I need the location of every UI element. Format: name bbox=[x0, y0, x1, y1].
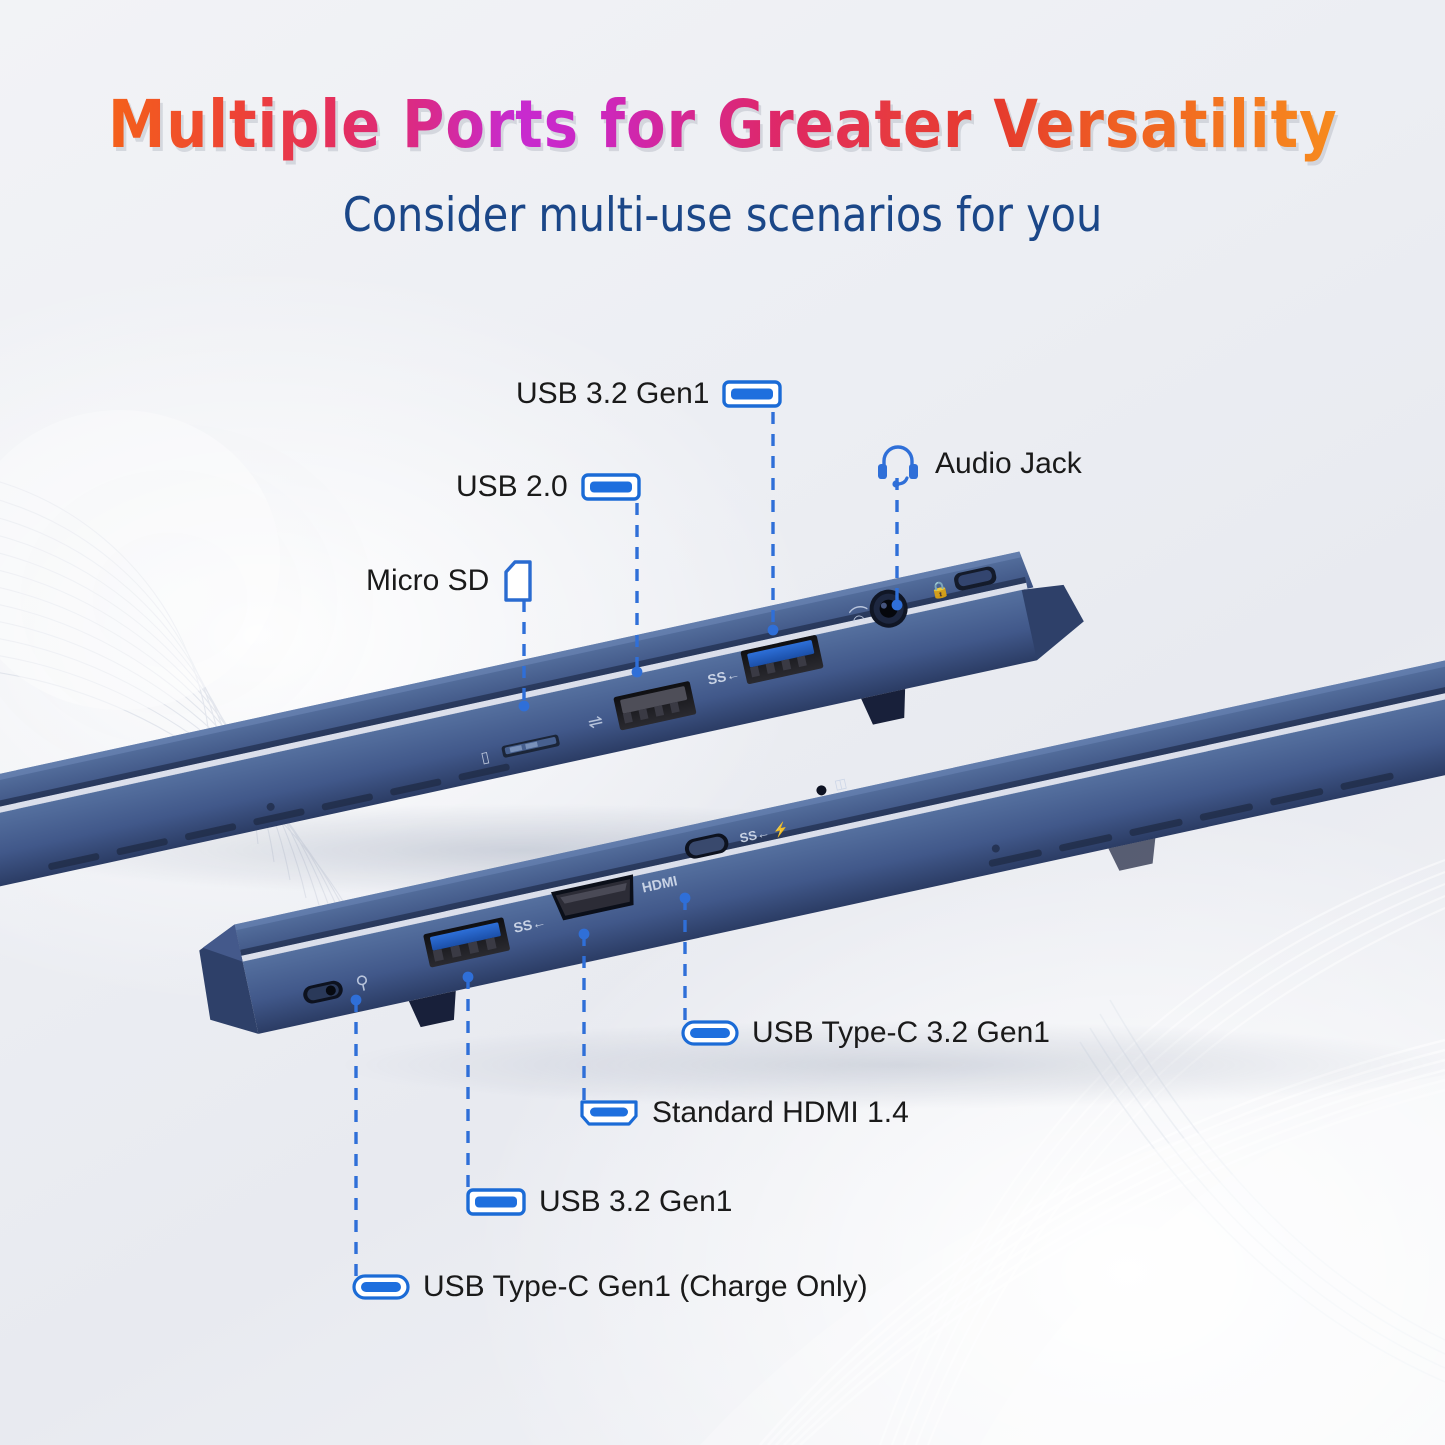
label-usb-32-gen1[interactable]: USB 3.2 Gen1 bbox=[516, 379, 782, 409]
port-audio-jack: ⌒ ◠ bbox=[845, 586, 911, 636]
laptop-upper: ▯ ⇌ bbox=[0, 541, 1096, 960]
usb-c-icon bbox=[352, 1273, 410, 1301]
label-usb-20[interactable]: USB 2.0 bbox=[456, 472, 641, 502]
label-micro-sd[interactable]: Micro SD bbox=[366, 559, 534, 603]
svg-text:SS← ⚡: SS← ⚡ bbox=[738, 820, 790, 846]
port-usb-c-3-2-gen1: SS← ⚡ bbox=[683, 818, 791, 860]
usb-c-icon bbox=[681, 1019, 739, 1047]
port-usb-3-2-gen1-lower: SS← bbox=[423, 908, 550, 967]
port-usb-3-2-gen1: SS← bbox=[703, 635, 824, 693]
leader-dots bbox=[351, 600, 903, 1006]
svg-text:⌒: ⌒ bbox=[847, 603, 871, 630]
page-title: Multiple Ports for Greater Versatility bbox=[108, 86, 1338, 163]
port-hdmi: HDMI bbox=[551, 866, 680, 922]
usb-a-icon bbox=[466, 1188, 526, 1216]
microsd-icon bbox=[502, 559, 534, 603]
hdmi-icon bbox=[579, 1098, 639, 1128]
infographic-canvas: ▯ ⇌ bbox=[0, 0, 1445, 1445]
label-usb-c-charge-text: USB Type-C Gen1 (Charge Only) bbox=[423, 1272, 868, 1302]
label-hdmi[interactable]: Standard HDMI 1.4 bbox=[579, 1098, 909, 1128]
svg-text:◫: ◫ bbox=[833, 775, 848, 792]
svg-text:🔒: 🔒 bbox=[928, 579, 951, 601]
page-subtitle: Consider multi-use scenarios for you bbox=[14, 188, 1430, 243]
label-audio-jack-text: Audio Jack bbox=[935, 449, 1082, 479]
label-usb-32-gen1-text: USB 3.2 Gen1 bbox=[516, 379, 709, 409]
label-usb-c-32-gen1-text: USB Type-C 3.2 Gen1 bbox=[752, 1018, 1050, 1048]
port-usb-c-charge: ⚲ bbox=[301, 971, 371, 1005]
label-hdmi-text: Standard HDMI 1.4 bbox=[652, 1098, 909, 1128]
label-usb-20-text: USB 2.0 bbox=[456, 472, 568, 502]
svg-text:HDMI: HDMI bbox=[640, 872, 678, 895]
label-usb-32-gen1-b-text: USB 3.2 Gen1 bbox=[539, 1187, 732, 1217]
svg-text:⇌: ⇌ bbox=[586, 710, 605, 733]
port-micro-sd: ▯ bbox=[479, 733, 561, 767]
port-kensington-lock: 🔒 bbox=[927, 565, 998, 601]
svg-text:▯: ▯ bbox=[479, 748, 491, 766]
label-micro-sd-text: Micro SD bbox=[366, 566, 489, 596]
leader-lines bbox=[356, 412, 897, 1280]
label-usb-32-gen1-b[interactable]: USB 3.2 Gen1 bbox=[466, 1187, 732, 1217]
headset-icon bbox=[874, 440, 922, 488]
usb-a-icon bbox=[722, 380, 782, 408]
label-usb-c-32-gen1[interactable]: USB Type-C 3.2 Gen1 bbox=[681, 1018, 1050, 1048]
port-usb-2-0: ⇌ bbox=[584, 681, 697, 737]
svg-text:SS←: SS← bbox=[706, 665, 741, 688]
svg-text:⚲: ⚲ bbox=[354, 971, 371, 993]
usb-a-icon bbox=[581, 473, 641, 501]
page-title-wrap: Multiple Ports for Greater Versatility bbox=[0, 86, 1445, 163]
label-usb-c-charge[interactable]: USB Type-C Gen1 (Charge Only) bbox=[352, 1272, 868, 1302]
label-audio-jack[interactable]: Audio Jack bbox=[874, 440, 1082, 488]
svg-text:◠: ◠ bbox=[851, 611, 867, 630]
svg-text:SS←: SS← bbox=[512, 913, 547, 936]
